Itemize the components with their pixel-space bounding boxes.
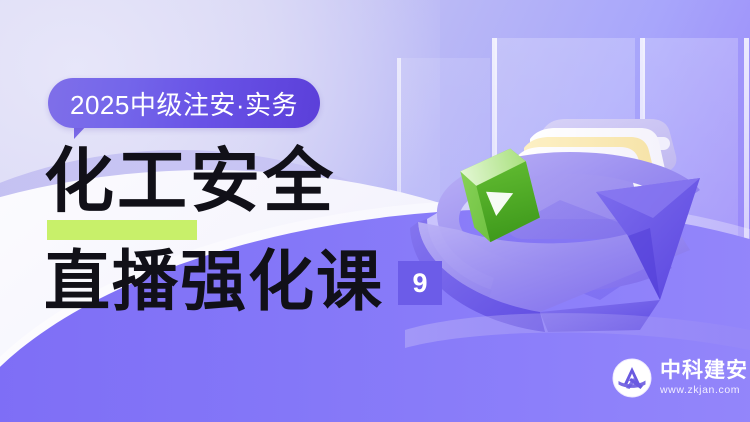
page-title-line-2: 直播强化课 <box>44 250 384 316</box>
course-tag: 2025中级注安·实务 <box>48 78 320 128</box>
brand-url: www.zkjan.com <box>660 385 748 396</box>
page-title-line-2-group: 直播强化课 9 <box>44 250 442 316</box>
brand-logo-text: 中科建安 www.zkjan.com <box>660 360 748 396</box>
episode-number-badge: 9 <box>398 261 442 305</box>
brand-logo: 中科建安 www.zkjan.com <box>612 358 748 398</box>
zkjan-circle-logo-icon <box>612 358 652 398</box>
course-tag-label: 2025中级注安·实务 <box>70 85 298 122</box>
brand-name: 中科建安 <box>660 360 748 381</box>
promo-banner: 2025中级注安·实务 化工安全 直播强化课 9 中科建安 www.zkjan.… <box>0 0 750 422</box>
floor-disc <box>405 313 750 350</box>
page-title-line-1: 化工安全 <box>44 148 336 218</box>
title-highlight-bar <box>47 220 197 240</box>
